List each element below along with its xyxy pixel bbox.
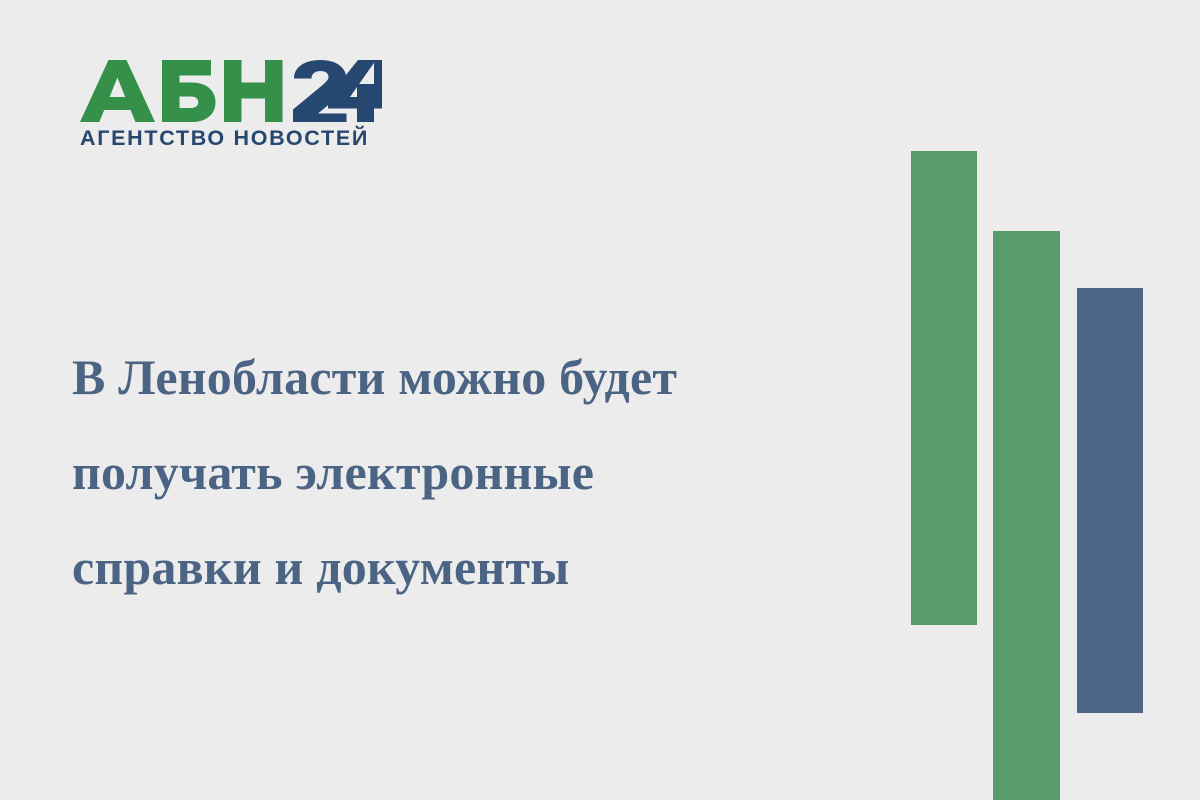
abn24-wordmark-icon xyxy=(80,60,382,122)
news-card: АГЕНТСТВО НОВОСТЕЙ В Ленобласти можно бу… xyxy=(0,0,1200,800)
logo-tagline: АГЕНТСТВО НОВОСТЕЙ xyxy=(80,128,380,150)
headline-line-2: получать электронные xyxy=(72,425,892,520)
decorative-bar-mid-green xyxy=(993,231,1060,800)
site-logo[interactable]: АГЕНТСТВО НОВОСТЕЙ xyxy=(80,60,380,150)
headline-line-3: справки и документы xyxy=(72,520,892,615)
headline: В Ленобласти можно будет получать электр… xyxy=(72,330,892,615)
decorative-bar-short-blue xyxy=(1077,288,1143,713)
headline-line-1: В Ленобласти можно будет xyxy=(72,330,892,425)
decorative-bar-tall-green xyxy=(911,151,977,625)
